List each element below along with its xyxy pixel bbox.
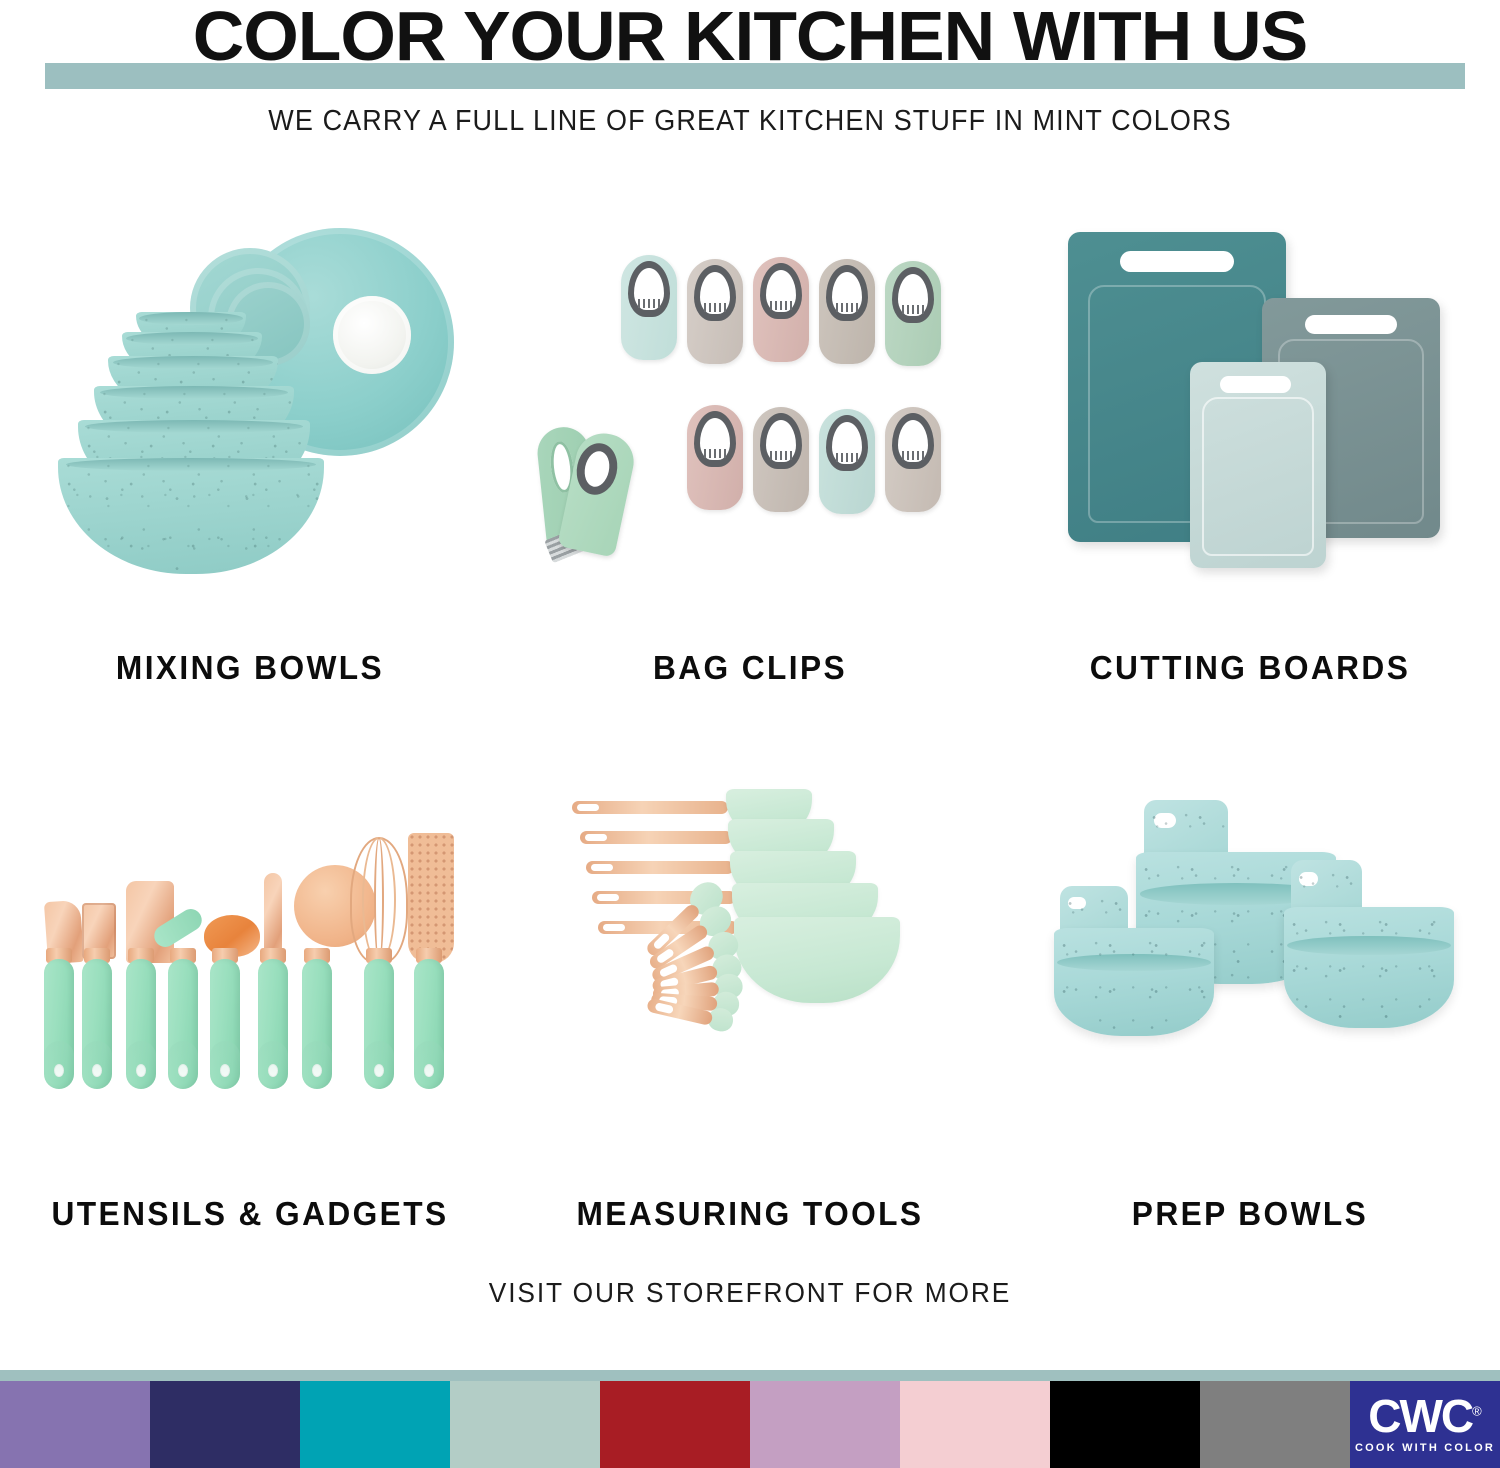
color-swatch-mauve [750, 1381, 900, 1468]
bag-clip-7 [753, 407, 809, 512]
brand-logo: CWC® COOK WITH COLOR [1350, 1381, 1500, 1468]
category-card-bag-clips[interactable]: BAG CLIPS [500, 175, 1000, 715]
category-label-cutting-boards: CUTTING BOARDS [1010, 649, 1490, 687]
category-label-mixing-bowls: MIXING BOWLS [10, 649, 490, 687]
color-swatch-navy [150, 1381, 300, 1468]
color-swatch-blush-pink [900, 1381, 1050, 1468]
brand-color-bar: CWC® COOK WITH COLOR [0, 1381, 1500, 1468]
bag-clip-3 [753, 257, 809, 362]
color-swatch-grey [1200, 1381, 1350, 1468]
color-swatch-teal [300, 1381, 450, 1468]
storefront-note: VISIT OUR STOREFRONT FOR MORE [45, 1277, 1455, 1309]
bag-clip-side-view [539, 421, 659, 561]
measuring-tools-image [500, 715, 1000, 1165]
category-label-measuring-tools: MEASURING TOOLS [510, 1195, 990, 1233]
bag-clip-8 [819, 409, 875, 514]
bag-clip-5 [885, 261, 941, 366]
category-card-cutting-boards[interactable]: CUTTING BOARDS [1000, 175, 1500, 715]
category-label-utensils-gadgets: UTENSILS & GADGETS [10, 1195, 490, 1233]
category-label-prep-bowls: PREP BOWLS [1010, 1195, 1490, 1233]
prep-bowl-medium [1284, 860, 1454, 1028]
logo-mark-text: CWC [1368, 1390, 1472, 1442]
bag-clips-image [500, 175, 1000, 625]
category-card-mixing-bowls[interactable]: MIXING BOWLS [0, 175, 500, 715]
measuring-cup-handle-1 [572, 801, 728, 814]
cutting-board-small [1190, 362, 1326, 568]
bag-clip-6 [687, 405, 743, 510]
header: COLOR YOUR KITCHEN WITH US WE CARRY A FU… [0, 0, 1500, 150]
prep-bowl-small [1054, 886, 1214, 1036]
bag-clip-1 [621, 255, 677, 360]
bag-clip-9 [885, 407, 941, 512]
measuring-cup-5 [734, 917, 900, 1003]
color-swatch-purple [0, 1381, 150, 1468]
lid-window [333, 296, 411, 374]
color-swatch-red [600, 1381, 750, 1468]
category-card-utensils-gadgets[interactable]: UTENSILS & GADGETS [0, 715, 500, 1255]
mixing-bowls-image [0, 175, 500, 625]
measuring-cup-handle-3 [586, 861, 734, 874]
bag-clip-4 [819, 259, 875, 364]
cutting-boards-image [1000, 175, 1500, 625]
logo-wordmark: CWC® [1368, 1395, 1481, 1439]
bag-clip-2 [687, 259, 743, 364]
color-bar-top-strip [0, 1370, 1500, 1381]
registered-trademark-icon: ® [1472, 1404, 1482, 1419]
logo-tagline: COOK WITH COLOR [1355, 1442, 1495, 1454]
measuring-cup-handle-2 [580, 831, 732, 844]
page-subtitle: WE CARRY A FULL LINE OF GREAT KITCHEN ST… [53, 105, 1448, 138]
color-swatch-black [1050, 1381, 1200, 1468]
page-title: COLOR YOUR KITCHEN WITH US [0, 0, 1500, 76]
color-swatch-sage-mint [450, 1381, 600, 1468]
category-label-bag-clips: BAG CLIPS [510, 649, 990, 687]
utensils-gadgets-image [0, 715, 500, 1165]
category-card-prep-bowls[interactable]: PREP BOWLS [1000, 715, 1500, 1255]
category-card-measuring-tools[interactable]: MEASURING TOOLS [500, 715, 1000, 1255]
prep-bowls-image [1000, 715, 1500, 1165]
mixing-bowl-6 [58, 458, 324, 574]
category-grid: MIXING BOWLS [0, 175, 1500, 1255]
